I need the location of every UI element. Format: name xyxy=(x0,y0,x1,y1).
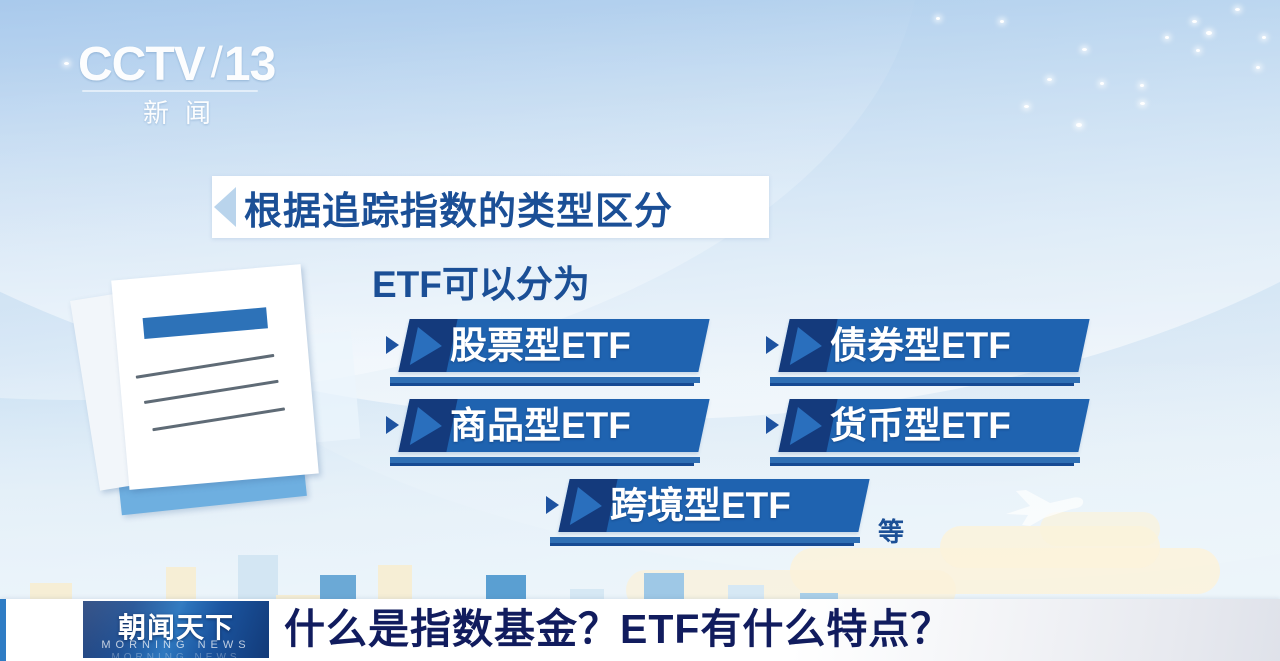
document-text-line xyxy=(136,354,275,379)
tag-item: 债券型ETF xyxy=(766,319,1086,372)
tag-underline-shadow xyxy=(770,463,1074,466)
star-sparkle-icon xyxy=(1196,49,1200,52)
star-sparkle-icon xyxy=(1140,102,1145,105)
star-sparkle-icon xyxy=(1192,20,1197,23)
tag-underline-shadow xyxy=(550,543,854,546)
program-name-en-reflection: MORNING NEWS xyxy=(83,652,269,658)
document-title-bar xyxy=(143,307,268,339)
star-sparkle-icon xyxy=(1047,78,1052,81)
star-sparkle-icon xyxy=(64,62,69,65)
tag-item: 货币型ETF xyxy=(766,399,1086,452)
tag-label: 跨境型ETF xyxy=(610,479,791,532)
tag-item: 跨境型ETF xyxy=(546,479,866,532)
star-sparkle-icon xyxy=(1256,66,1260,69)
star-sparkle-icon xyxy=(1024,105,1029,108)
subtitle-text: ETF可以分为 xyxy=(372,254,590,308)
tag-label: 货币型ETF xyxy=(830,399,1011,452)
tag-label: 商品型ETF xyxy=(450,399,631,452)
document-text-line xyxy=(144,380,279,404)
star-sparkle-icon xyxy=(1082,48,1087,51)
document-text-line xyxy=(152,407,285,431)
tag-underline-shadow xyxy=(390,383,694,386)
right-arrow-icon xyxy=(386,336,399,354)
star-sparkle-icon xyxy=(1000,20,1004,23)
star-sparkle-icon xyxy=(1262,36,1266,39)
broadcast-screen: CCTV / 13 新闻 根据追踪指数的类型区分 ETF可以分为 xyxy=(0,0,1280,661)
star-sparkle-icon xyxy=(1140,84,1144,87)
tag-label: 股票型ETF xyxy=(450,319,631,372)
right-arrow-icon xyxy=(386,416,399,434)
news-headline: 什么是指数基金？ETF有什么特点？ xyxy=(284,601,952,657)
star-sparkle-icon xyxy=(936,17,940,20)
document-stack-icon xyxy=(86,252,376,517)
document-front-page xyxy=(111,264,319,490)
section-header-banner: 根据追踪指数的类型区分 xyxy=(212,176,769,238)
left-triangle-icon xyxy=(212,176,240,238)
right-arrow-icon xyxy=(546,496,559,514)
right-arrow-icon xyxy=(766,416,779,434)
tag-underline-shadow xyxy=(770,383,1074,386)
channel-logo-sub: 新闻 xyxy=(78,93,278,130)
channel-logo-slash: / xyxy=(211,36,222,90)
etc-label: 等 xyxy=(878,512,904,549)
right-arrow-icon xyxy=(766,336,779,354)
tag-underline-shadow xyxy=(390,463,694,466)
tag-item: 股票型ETF xyxy=(386,319,706,372)
star-sparkle-icon xyxy=(1165,36,1169,39)
star-sparkle-icon xyxy=(1076,123,1082,127)
star-sparkle-icon xyxy=(1206,31,1212,35)
page-title: 根据追踪指数的类型区分 xyxy=(244,180,673,235)
channel-logo-name: CCTV xyxy=(78,38,205,92)
tag-label: 债券型ETF xyxy=(830,319,1011,372)
channel-logo: CCTV / 13 新闻 xyxy=(78,38,278,143)
star-sparkle-icon xyxy=(1100,82,1104,85)
program-name-en: MORNING NEWS xyxy=(83,639,269,651)
tag-item: 商品型ETF xyxy=(386,399,706,452)
star-sparkle-icon xyxy=(1235,8,1240,11)
channel-logo-underline xyxy=(82,90,258,92)
channel-logo-number: 13 xyxy=(224,38,275,92)
bar-accent-stripe xyxy=(0,599,6,661)
program-logo: 朝闻天下 MORNING NEWS MORNING NEWS xyxy=(83,601,269,658)
